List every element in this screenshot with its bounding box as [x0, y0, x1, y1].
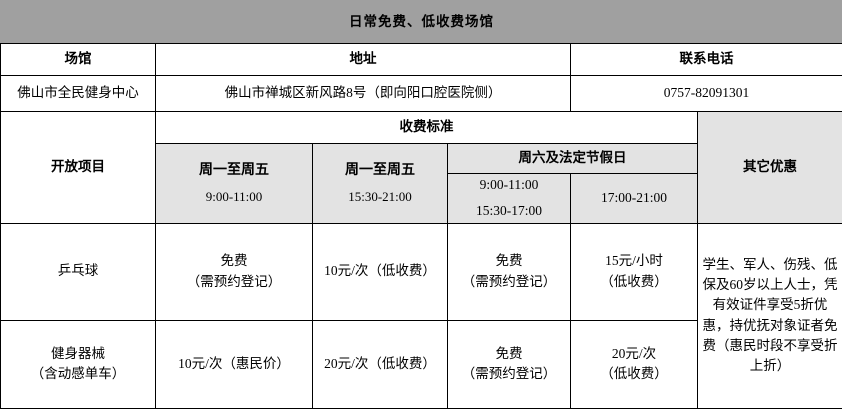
venue-name: 佛山市全民健身中心: [1, 76, 156, 112]
row-1-weekday-morning-line-1: 免费: [159, 251, 309, 271]
row-2-weekend-evening-line-2: （低收费）: [574, 364, 694, 384]
row-2-item-line-2: （含动感单车）: [4, 364, 152, 384]
fee-standard-header: 收费标准: [156, 112, 698, 144]
row-2-weekend-day: 免费 （需预约登记）: [448, 320, 571, 408]
venue-phone: 0757-82091301: [571, 76, 842, 112]
weekend-slot-2: 17:00-21:00: [571, 174, 698, 224]
schedule-2-time: 15:30-21:00: [316, 187, 444, 207]
venue-data-row: 佛山市全民健身中心 佛山市禅城区新风路8号（即向阳口腔医院侧） 0757-820…: [1, 76, 842, 112]
header-venue: 场馆: [1, 44, 156, 76]
row-2-weekend-day-line-2: （需预约登记）: [451, 364, 567, 384]
fee-standard-row: 开放项目 收费标准 其它优惠: [1, 112, 842, 144]
row-1-weekend-day-line-2: （需预约登记）: [451, 272, 567, 292]
schedule-col-1: 周一至周五 9:00-11:00: [156, 144, 313, 224]
page-title: 日常免费、低收费场馆: [1, 1, 842, 44]
row-1-weekday-morning-line-2: （需预约登记）: [159, 272, 309, 292]
venue-fee-table: 日常免费、低收费场馆 场馆 地址 联系电话 佛山市全民健身中心 佛山市禅城区新风…: [0, 0, 842, 409]
row-1-weekend-day-line-1: 免费: [451, 251, 567, 271]
row-1-weekend-day: 免费 （需预约登记）: [448, 223, 571, 320]
schedule-2-title: 周一至周五: [316, 160, 444, 181]
row-1-weekend-evening-line-2: （低收费）: [574, 272, 694, 292]
schedule-1-title: 周一至周五: [159, 160, 309, 181]
row-2-weekday-evening-line-1: 20元/次（低收费）: [316, 354, 444, 374]
venue-header-row: 场馆 地址 联系电话: [1, 44, 842, 76]
header-address: 地址: [156, 44, 571, 76]
row-2-weekday-morning-line-1: 10元/次（惠民价）: [159, 354, 309, 374]
open-item-header: 开放项目: [1, 112, 156, 224]
weekend-slot-1: 9:00-11:00 15:30-17:00: [448, 174, 571, 224]
table-row: 乒乓球 免费 （需预约登记） 10元/次（低收费） 免费 （需预约登记） 15元…: [1, 223, 842, 320]
row-1-item: 乒乓球: [1, 223, 156, 320]
row-2-item: 健身器械 （含动感单车）: [1, 320, 156, 408]
row-2-weekend-day-line-1: 免费: [451, 344, 567, 364]
schedule-col-2: 周一至周五 15:30-21:00: [313, 144, 448, 224]
row-1-weekend-evening-line-1: 15元/小时: [574, 251, 694, 271]
other-discount-header: 其它优惠: [698, 112, 842, 224]
row-2-item-line-1: 健身器械: [4, 344, 152, 364]
row-1-weekday-evening-line-1: 10元/次（低收费）: [316, 261, 444, 281]
weekend-slot-1-time-a: 9:00-11:00: [451, 175, 567, 195]
row-2-weekday-evening: 20元/次（低收费）: [313, 320, 448, 408]
row-1-weekday-morning: 免费 （需预约登记）: [156, 223, 313, 320]
row-2-weekend-evening-line-1: 20元/次: [574, 344, 694, 364]
venue-address: 佛山市禅城区新风路8号（即向阳口腔医院侧）: [156, 76, 571, 112]
weekend-group-title: 周六及法定节假日: [448, 144, 698, 174]
row-2-weekday-morning: 10元/次（惠民价）: [156, 320, 313, 408]
header-phone: 联系电话: [571, 44, 842, 76]
row-1-weekday-evening: 10元/次（低收费）: [313, 223, 448, 320]
schedule-1-time: 9:00-11:00: [159, 187, 309, 207]
banner-row: 日常免费、低收费场馆: [1, 1, 842, 44]
row-1-item-line-1: 乒乓球: [4, 261, 152, 281]
row-2-weekend-evening: 20元/次 （低收费）: [571, 320, 698, 408]
row-1-weekend-evening: 15元/小时 （低收费）: [571, 223, 698, 320]
weekend-slot-1-time-b: 15:30-17:00: [451, 201, 567, 221]
discount-text: 学生、军人、伤残、低保及60岁以上人士，凭有效证件享受5折优惠，持优抚对象证者免…: [698, 223, 842, 408]
